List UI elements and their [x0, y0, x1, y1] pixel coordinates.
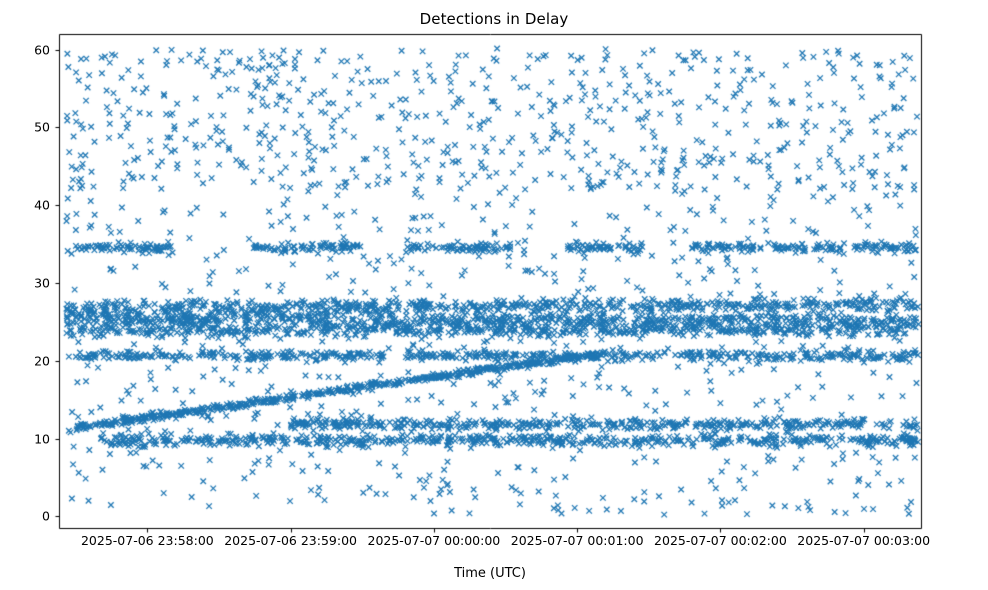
y-tick-label: 30	[10, 275, 50, 290]
matplotlib-figure: Detections in Delay Time (UTC) Bistatic …	[0, 0, 988, 590]
x-tick-label: 2025-07-07 00:01:00	[511, 533, 644, 548]
y-tick-label: 0	[10, 509, 50, 524]
y-tick-label: 50	[10, 120, 50, 135]
y-tick-label: 60	[10, 42, 50, 57]
page-title: Detections in Delay	[0, 10, 988, 28]
x-tick-label: 2025-07-07 00:02:00	[654, 533, 787, 548]
y-tick-label: 40	[10, 198, 50, 213]
x-tick-label: 2025-07-06 23:59:00	[224, 533, 357, 548]
y-tick-label: 10	[10, 431, 50, 446]
x-axis-label: Time (UTC)	[59, 566, 921, 581]
x-tick-label: 2025-07-07 00:00:00	[367, 533, 500, 548]
x-tick-label: 2025-07-06 23:58:00	[81, 533, 214, 548]
y-tick-label: 20	[10, 353, 50, 368]
x-tick-label: 2025-07-07 00:03:00	[797, 533, 930, 548]
scatter-plot-canvas	[0, 0, 988, 590]
